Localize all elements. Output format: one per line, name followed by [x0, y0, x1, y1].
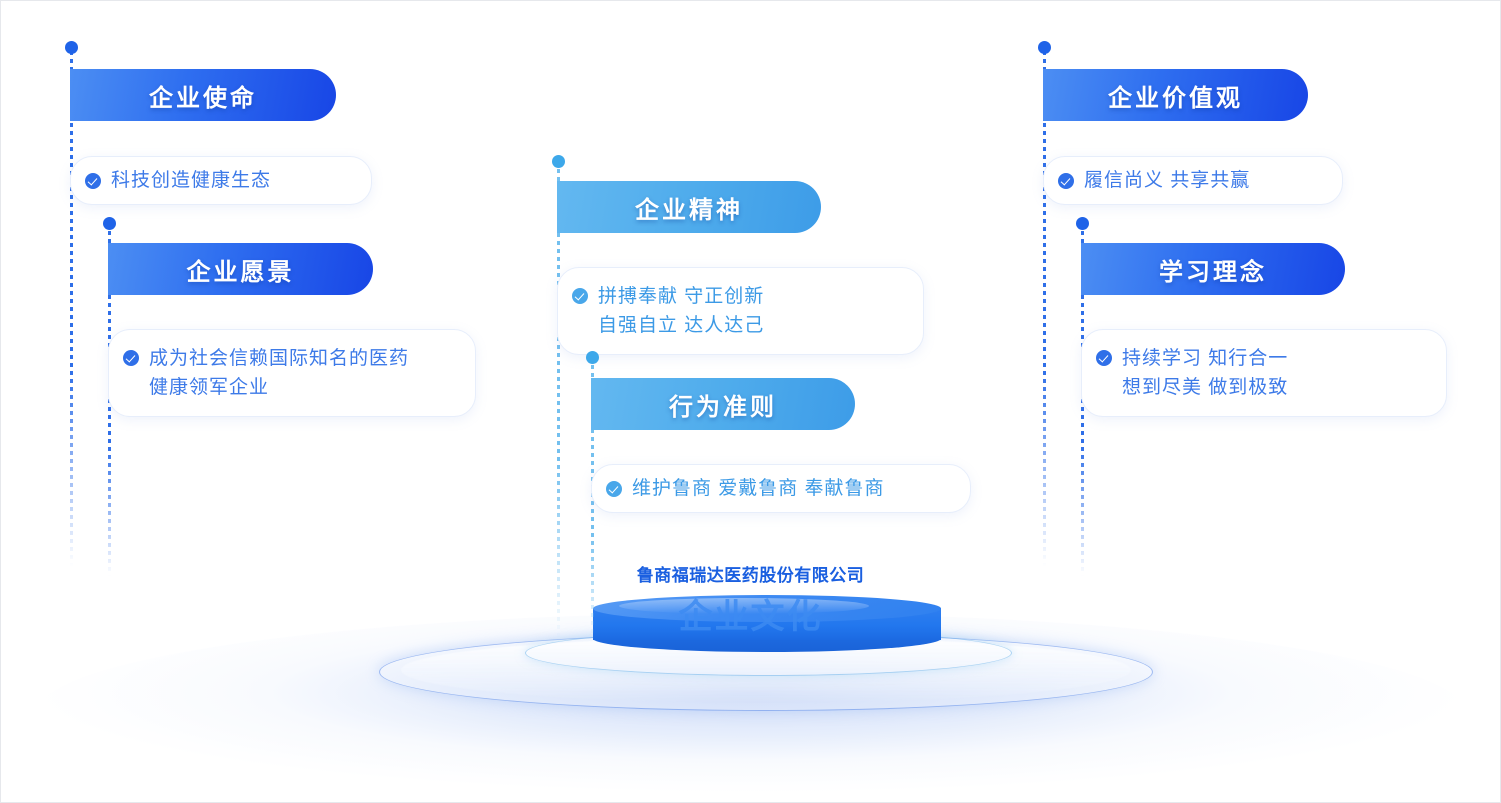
block-card-conduct: 维护鲁商 爱戴鲁商 奉献鲁商	[591, 464, 971, 513]
block-mission: 企业使命 科技创造健康生态	[70, 69, 470, 205]
block-body-text: 持续学习 知行合一 想到尽美 做到极致	[1122, 344, 1288, 402]
block-body-text: 维护鲁商 爱戴鲁商 奉献鲁商	[632, 474, 885, 503]
block-title-text: 企业精神	[635, 190, 743, 225]
pin-dot-vision	[103, 217, 116, 230]
block-title-values: 企业价值观	[1043, 69, 1308, 121]
block-spirit: 企业精神 拼搏奉献 守正创新 自强自立 达人达己	[557, 181, 957, 355]
podium	[593, 595, 941, 645]
block-title-text: 行为准则	[669, 387, 777, 422]
block-card-mission: 科技创造健康生态	[70, 156, 372, 205]
pin-dot-conduct	[586, 351, 599, 364]
block-card-learning: 持续学习 知行合一 想到尽美 做到极致	[1081, 329, 1447, 417]
block-learning: 学习理念 持续学习 知行合一 想到尽美 做到极致	[1081, 243, 1501, 417]
block-body-text: 科技创造健康生态	[111, 166, 271, 195]
check-circle-icon	[85, 173, 101, 189]
block-title-text: 企业愿景	[187, 252, 295, 287]
block-values: 企业价值观 履信尚义 共享共赢	[1043, 69, 1443, 205]
check-circle-icon	[1096, 350, 1112, 366]
block-title-text: 学习理念	[1159, 252, 1267, 287]
check-circle-icon	[606, 481, 622, 497]
check-circle-icon	[572, 288, 588, 304]
block-title-text: 企业价值观	[1108, 78, 1243, 113]
block-body-text: 履信尚义 共享共赢	[1084, 166, 1250, 195]
pin-dot-spirit	[552, 155, 565, 168]
block-card-vision: 成为社会信赖国际知名的医药 健康领军企业	[108, 329, 476, 417]
company-name: 鲁商福瑞达医药股份有限公司	[471, 565, 1031, 587]
culture-infographic-canvas: 企业文化 鲁商福瑞达医药股份有限公司 企业使命 科技创造健康生态 企业愿景 成为…	[0, 0, 1501, 803]
block-body-text: 拼搏奉献 守正创新 自强自立 达人达己	[598, 282, 764, 340]
podium-highlight	[619, 598, 869, 614]
check-circle-icon	[123, 350, 139, 366]
block-card-spirit: 拼搏奉献 守正创新 自强自立 达人达己	[557, 267, 924, 355]
block-title-vision: 企业愿景	[108, 243, 373, 295]
podium-labels: 鲁商福瑞达医药股份有限公司	[471, 565, 1031, 587]
block-title-mission: 企业使命	[70, 69, 336, 121]
podium-top	[593, 595, 941, 622]
check-circle-icon	[1058, 173, 1074, 189]
block-title-text: 企业使命	[149, 78, 257, 113]
block-title-conduct: 行为准则	[591, 378, 855, 430]
pin-dot-learning	[1076, 217, 1089, 230]
block-card-values: 履信尚义 共享共赢	[1043, 156, 1343, 205]
block-title-spirit: 企业精神	[557, 181, 821, 233]
block-conduct: 行为准则 维护鲁商 爱戴鲁商 奉献鲁商	[591, 378, 1011, 513]
pin-dot-values	[1038, 41, 1051, 54]
block-body-text: 成为社会信赖国际知名的医药 健康领军企业	[149, 344, 409, 402]
block-title-learning: 学习理念	[1081, 243, 1345, 295]
block-vision: 企业愿景 成为社会信赖国际知名的医药 健康领军企业	[108, 243, 528, 417]
pin-dot-mission	[65, 41, 78, 54]
